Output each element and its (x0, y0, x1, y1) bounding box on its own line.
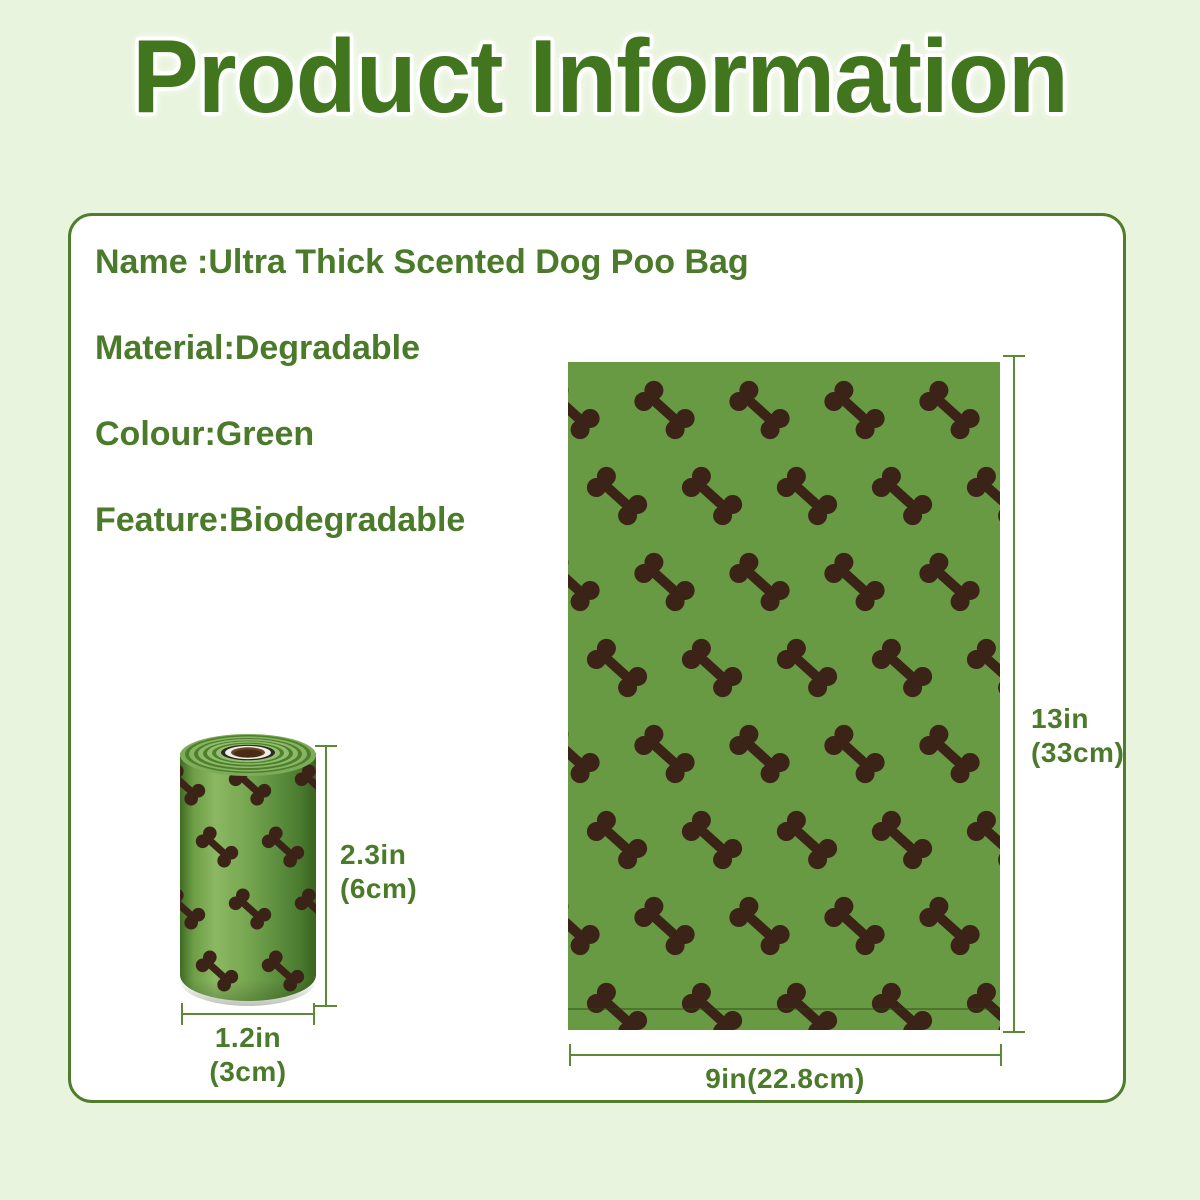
roll-height-cap-top (315, 745, 337, 747)
spec-list: Name :Ultra Thick Scented Dog Poo Bag Ma… (95, 243, 565, 587)
spec-row-name: Name :Ultra Thick Scented Dog Poo Bag (95, 243, 565, 281)
roll-width-metric: (3cm) (148, 1055, 348, 1089)
bone-pattern (568, 362, 1000, 1030)
spec-row-feature: Feature:Biodegradable (95, 501, 565, 539)
bag-height-metric: (33cm) (1031, 736, 1124, 770)
roll-height-cap-bottom (315, 1005, 337, 1007)
bag-roll-illustration (180, 733, 316, 1005)
roll-width-inches: 1.2in (148, 1021, 348, 1055)
bag-width-dimension-line (569, 1054, 1001, 1056)
spec-row-colour: Colour:Green (95, 415, 565, 453)
bag-height-dimension-line (1013, 356, 1015, 1032)
roll-height-inches: 2.3in (340, 838, 417, 872)
roll-bone-pattern (180, 753, 316, 1001)
bag-width-label: 9in(22.8cm) (569, 1062, 1001, 1096)
roll-height-metric: (6cm) (340, 872, 417, 906)
product-information-page: Product Information Name :Ultra Thick Sc… (0, 0, 1200, 1200)
bag-height-cap-bottom (1003, 1031, 1025, 1033)
bag-seam-line (568, 1008, 1000, 1010)
bag-height-label: 13in (33cm) (1031, 702, 1124, 770)
page-title: Product Information (24, 22, 1176, 132)
roll-bottom-shade (180, 980, 316, 1006)
roll-height-dimension-line (325, 745, 327, 1007)
roll-coil-top (180, 733, 316, 777)
spec-row-material: Material:Degradable (95, 329, 565, 367)
bag-height-inches: 13in (1031, 702, 1124, 736)
roll-width-label: 1.2in (3cm) (148, 1021, 348, 1089)
dog-poo-bag-illustration (568, 362, 1000, 1030)
roll-height-label: 2.3in (6cm) (340, 838, 417, 906)
bag-height-cap-top (1003, 355, 1025, 357)
roll-width-dimension-line (181, 1013, 315, 1015)
